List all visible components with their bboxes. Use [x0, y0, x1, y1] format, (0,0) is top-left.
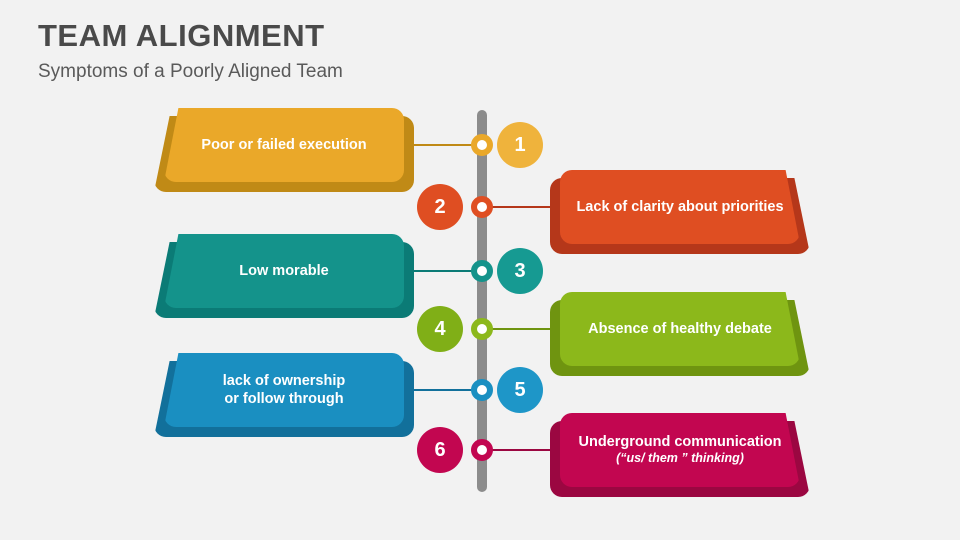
symptom-banner[interactable]: Underground communication(“us/ them ” th…: [560, 413, 800, 487]
banner-label: Poor or failed execution: [164, 108, 404, 182]
number-badge[interactable]: 1: [497, 122, 543, 168]
banner-sublabel-text: (“us/ them ” thinking): [579, 451, 782, 467]
banner-label: Lack of clarity about priorities: [560, 170, 800, 244]
symptom-banner[interactable]: Low morable: [164, 234, 404, 308]
banner-label-text: Underground communication(“us/ them ” th…: [579, 433, 782, 467]
page-subtitle: Symptoms of a Poorly Aligned Team: [38, 61, 343, 83]
banner-label: lack of ownershipor follow through: [164, 353, 404, 427]
symptom-banner[interactable]: lack of ownershipor follow through: [164, 353, 404, 427]
symptom-banner[interactable]: Lack of clarity about priorities: [560, 170, 800, 244]
banner-label-text: Lack of clarity about priorities: [576, 198, 783, 216]
symptom-banner[interactable]: Absence of healthy debate: [560, 292, 800, 366]
timeline-node-icon: [471, 379, 493, 401]
banner-label-text: Absence of healthy debate: [588, 320, 772, 338]
central-timeline-bar: [477, 110, 487, 492]
number-badge[interactable]: 6: [417, 427, 463, 473]
number-badge[interactable]: 3: [497, 248, 543, 294]
number-badge[interactable]: 5: [497, 367, 543, 413]
connector-line: [482, 206, 560, 208]
timeline-node-icon: [471, 318, 493, 340]
banner-label: Low morable: [164, 234, 404, 308]
banner-label-text: Poor or failed execution: [201, 136, 366, 154]
timeline-node-icon: [471, 196, 493, 218]
connector-line: [482, 449, 560, 451]
slide-canvas: TEAM ALIGNMENT Symptoms of a Poorly Alig…: [0, 0, 960, 540]
number-badge[interactable]: 4: [417, 306, 463, 352]
timeline-node-icon: [471, 134, 493, 156]
banner-label-text: Low morable: [239, 262, 328, 280]
timeline-node-icon: [471, 260, 493, 282]
symptom-banner[interactable]: Poor or failed execution: [164, 108, 404, 182]
page-title: TEAM ALIGNMENT: [38, 18, 325, 54]
banner-label: Underground communication(“us/ them ” th…: [560, 413, 800, 487]
banner-label-text: lack of ownershipor follow through: [223, 372, 345, 408]
timeline-node-icon: [471, 439, 493, 461]
banner-label: Absence of healthy debate: [560, 292, 800, 366]
number-badge[interactable]: 2: [417, 184, 463, 230]
connector-line: [482, 328, 560, 330]
